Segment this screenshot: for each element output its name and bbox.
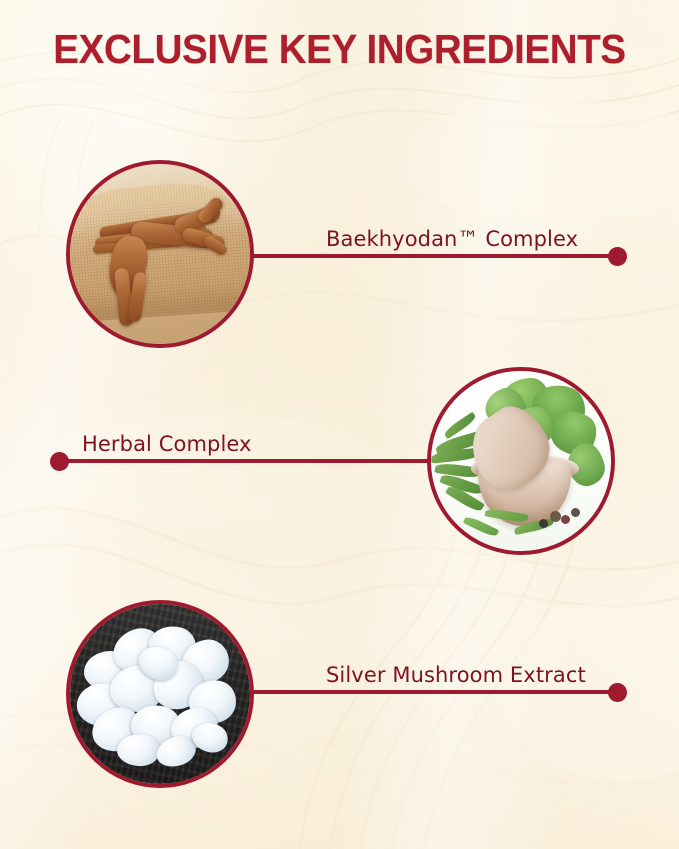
white-fungus-on-bark-photo: [66, 600, 254, 788]
connector-end-dot-3: [608, 683, 627, 702]
page-title: EXCLUSIVE KEY INGREDIENTS: [20, 26, 658, 72]
dried-roots-on-burlap-photo: [66, 160, 254, 348]
mortar-and-pestle-herbs-photo: [427, 367, 615, 555]
connector-line-3: [240, 690, 622, 694]
exclusive-key-ingredients-infographic: EXCLUSIVE KEY INGREDIENTS: [0, 0, 679, 849]
ingredient-label-3: Silver Mushroom Extract: [326, 662, 586, 688]
connector-end-dot-2: [50, 452, 69, 471]
connector-line-2: [62, 459, 440, 463]
ingredient-label-2: Herbal Complex: [82, 431, 252, 457]
connector-end-dot-1: [608, 247, 627, 266]
connector-line-1: [240, 254, 622, 258]
ingredient-label-1: Baekhyodan™ Complex: [326, 226, 578, 252]
